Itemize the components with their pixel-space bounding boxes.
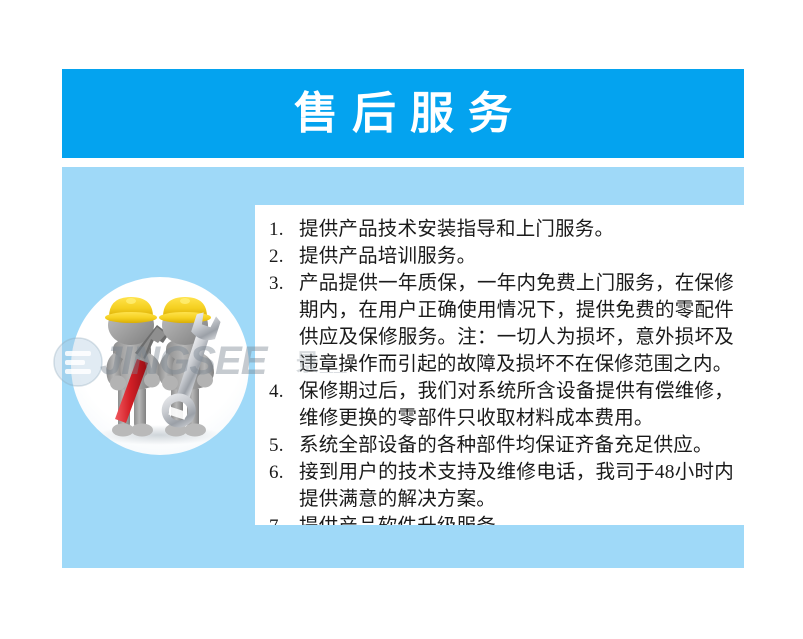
list-item-number: 5. (269, 432, 297, 459)
list-item-text: 提供产品软件升级服务。 (299, 516, 516, 525)
header-banner: 售后服务 (62, 69, 744, 158)
body-panel: 1. 提供产品技术安装指导和上门服务。 2. 提供产品培训服务。 3. 产品提供… (62, 167, 744, 568)
list-item: 7. 提供产品软件升级服务。 (255, 513, 744, 525)
list-item-number: 6. (269, 459, 297, 486)
list-item-text: 提供产品技术安装指导和上门服务。 (299, 219, 614, 240)
list-item-text: 系统全部设备的各种部件均保证齐备充足供应。 (299, 435, 713, 456)
list-item: 5. 系统全部设备的各种部件均保证齐备充足供应。 (255, 432, 744, 459)
list-item: 2. 提供产品培训服务。 (255, 243, 744, 270)
service-list: 1. 提供产品技术安装指导和上门服务。 2. 提供产品培训服务。 3. 产品提供… (255, 205, 744, 525)
list-item: 6. 接到用户的技术支持及维修电话，我司于48小时内提供满意的解决方案。 (255, 459, 744, 513)
workers-illustration (71, 277, 249, 455)
list-item-number: 4. (269, 378, 297, 405)
list-item-text: 保修期过后，我们对系统所含设备提供有偿维修，维修更换的零部件只收取材料成本费用。 (299, 381, 734, 429)
after-sales-service-poster: 售后服务 (0, 0, 803, 639)
service-list-card: 1. 提供产品技术安装指导和上门服务。 2. 提供产品培训服务。 3. 产品提供… (255, 205, 744, 525)
list-item: 3. 产品提供一年质保，一年内免费上门服务，在保修期内，在用户正确使用情况下，提… (255, 270, 744, 378)
two-workers-icon (71, 277, 249, 455)
list-item-number: 1. (269, 216, 297, 243)
list-item: 4. 保修期过后，我们对系统所含设备提供有偿维修，维修更换的零部件只收取材料成本… (255, 378, 744, 432)
list-item-text: 提供产品培训服务。 (299, 246, 476, 267)
list-item-text: 接到用户的技术支持及维修电话，我司于48小时内提供满意的解决方案。 (299, 462, 734, 510)
list-item-text: 产品提供一年质保，一年内免费上门服务，在保修期内，在用户正确使用情况下，提供免费… (299, 273, 734, 375)
list-item-number: 7. (269, 513, 297, 525)
list-item-number: 3. (269, 270, 297, 297)
list-item: 1. 提供产品技术安装指导和上门服务。 (255, 216, 744, 243)
list-item-number: 2. (269, 243, 297, 270)
page-title: 售后服务 (280, 92, 526, 136)
